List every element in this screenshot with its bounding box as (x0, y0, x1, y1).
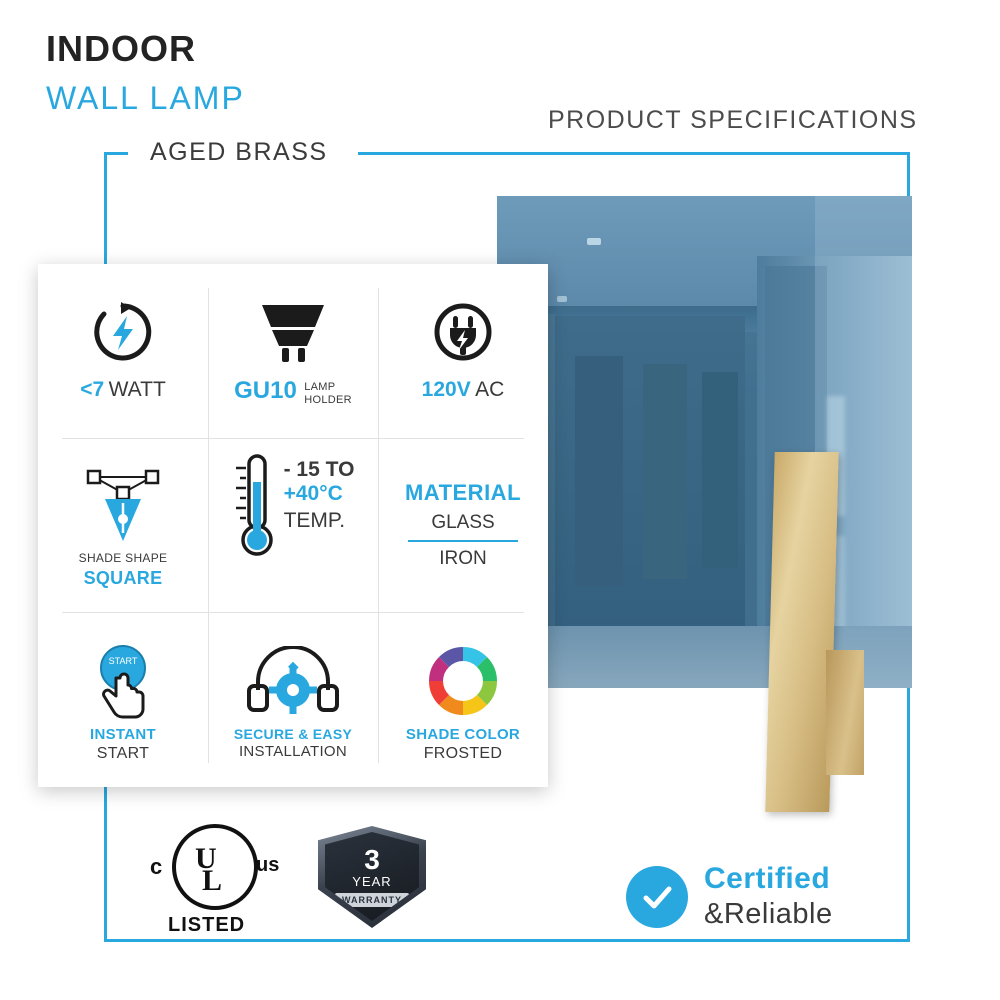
spec-caption-installation: SECURE & EASY INSTALLATION (234, 727, 352, 761)
shade-color-label: SHADE COLOR (406, 727, 520, 744)
brass-lamp-back (826, 650, 864, 775)
ul-letter-l: L (202, 864, 222, 898)
warranty-badge: 3 YEAR WARRANTY (318, 826, 426, 928)
certified-badge: Certified &Reliable (626, 862, 896, 938)
warranty-year: YEAR (352, 874, 391, 889)
thermometer-icon (232, 452, 280, 565)
holder-unit-1: LAMP (304, 381, 352, 393)
material-title: MATERIAL (405, 480, 521, 506)
power-bolt-icon (91, 286, 155, 378)
material-value-1: GLASS (405, 512, 521, 534)
specification-card: <7 WATT GU10 LAMP HOLDER (38, 264, 548, 787)
ul-listed-text: LISTED (168, 914, 245, 937)
spec-caption-voltage: 120V AC (422, 378, 505, 402)
spec-cell-material: MATERIAL GLASS IRON (378, 438, 548, 612)
voltage-value: 120V (422, 378, 471, 401)
certified-subtitle: &Reliable (704, 898, 833, 931)
spec-cell-voltage: 120V AC (378, 264, 548, 438)
spec-cell-wattage: <7 WATT (38, 264, 208, 438)
temp-range-bottom: +40°C (284, 482, 355, 506)
shade-shape-label: SHADE SHAPE (79, 552, 168, 565)
instant-start-label: INSTANT (90, 727, 156, 744)
product-photo (497, 196, 912, 688)
gu10-bulb-icon (254, 286, 332, 378)
watt-value: <7 (80, 378, 104, 401)
installation-value: INSTALLATION (234, 744, 352, 761)
spec-cell-temperature: - 15 TO +40°C TEMP. (208, 438, 378, 612)
check-icon (626, 866, 688, 928)
page-subtitle: WALL LAMP (46, 80, 245, 117)
photo-ceiling-spot-2 (557, 296, 567, 302)
photo-door-2 (643, 364, 687, 579)
installation-label: SECURE & EASY (234, 727, 352, 743)
spec-cell-instant-start: START INSTANT START (38, 613, 208, 787)
spec-cell-shade-shape: SHADE SHAPE SQUARE (38, 438, 208, 612)
spec-cell-shade-color: SHADE COLOR FROSTED (378, 613, 548, 787)
svg-text:START: START (109, 656, 138, 666)
hand-start-button-icon: START (86, 635, 160, 727)
page-title: INDOOR (46, 28, 196, 70)
spec-caption-instant-start: INSTANT START (90, 727, 156, 764)
holder-unit-2: HOLDER (304, 394, 352, 406)
spec-caption-wattage: <7 WATT (80, 378, 166, 402)
warranty-number: 3 (364, 846, 380, 874)
headset-gear-icon (246, 635, 340, 727)
holder-value: GU10 (234, 377, 297, 404)
spec-caption-lamp-holder: GU10 LAMP HOLDER (234, 378, 352, 406)
material-value-2: IRON (405, 548, 521, 570)
temp-range-top: - 15 TO (284, 458, 355, 482)
ul-letter-c: c (150, 854, 162, 880)
spec-grid: <7 WATT GU10 LAMP HOLDER (38, 264, 548, 787)
voltage-unit: AC (475, 378, 504, 401)
photo-door-1 (575, 356, 623, 586)
certified-title: Certified (704, 862, 830, 896)
ul-letter-us: us (256, 854, 279, 877)
spec-section-title: PRODUCT SPECIFICATIONS (548, 106, 918, 135)
instant-start-value: START (90, 745, 156, 763)
shade-color-value: FROSTED (406, 745, 520, 763)
shade-shape-value: SQUARE (79, 568, 168, 588)
pen-nib-icon (80, 460, 166, 552)
material-divider (408, 540, 518, 542)
spec-cell-installation: SECURE & EASY INSTALLATION (208, 613, 378, 787)
color-wheel-icon (423, 635, 503, 727)
watt-unit: WATT (109, 378, 166, 401)
photo-ceiling-spot-1 (587, 238, 601, 245)
photo-door-3 (702, 372, 738, 568)
check-glyph (641, 881, 673, 913)
spec-caption-shade-color: SHADE COLOR FROSTED (406, 727, 520, 764)
finish-label: AGED BRASS (140, 138, 338, 167)
temp-label: TEMP. (284, 507, 355, 534)
plug-icon (431, 286, 495, 378)
spec-cell-lamp-holder: GU10 LAMP HOLDER (208, 264, 378, 438)
ul-listed-badge: U L c us LISTED (150, 824, 280, 934)
shield-inner: 3 YEAR WARRANTY (325, 832, 419, 921)
spec-caption-shade-shape: SHADE SHAPE SQUARE (79, 552, 168, 588)
